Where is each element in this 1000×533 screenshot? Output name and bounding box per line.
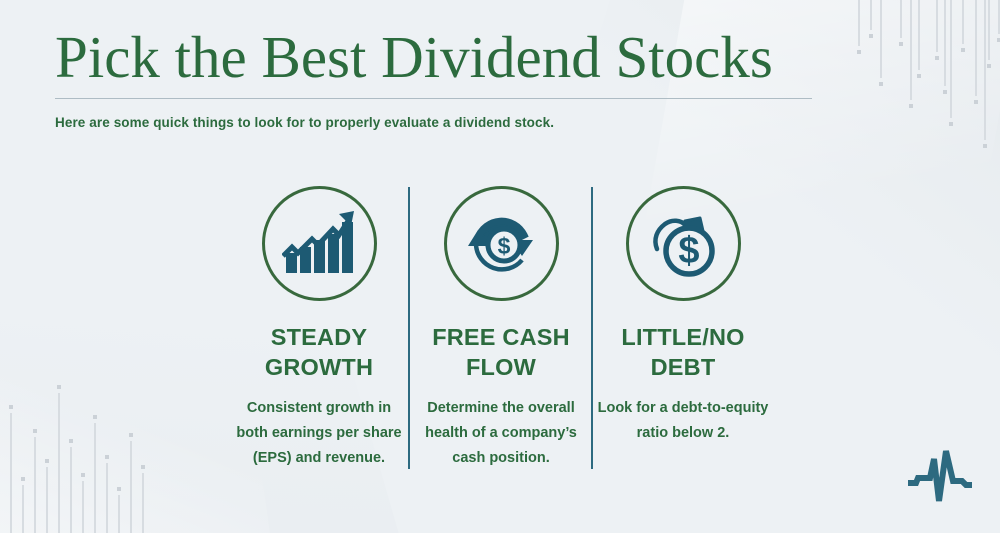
tick-line <box>880 0 882 78</box>
tick-line <box>984 0 986 140</box>
tick-line <box>870 0 872 30</box>
tick-line <box>910 0 912 100</box>
tick-dot <box>141 465 145 469</box>
tick-dot <box>857 50 861 54</box>
tick-dot <box>961 48 965 52</box>
column-heading: STEADY GROWTH <box>232 322 406 382</box>
tick-line <box>858 0 860 46</box>
feature-column-free-cash-flow: $ FREE CASH FLOW Determine the overall h… <box>410 186 592 471</box>
tick-dot <box>105 455 109 459</box>
tick-dot <box>33 429 37 433</box>
column-body: Consistent growth in both earnings per s… <box>232 396 406 471</box>
tick-dot <box>57 385 61 389</box>
tick-dot <box>909 104 913 108</box>
tick-line <box>962 0 964 44</box>
tick-dot <box>9 405 13 409</box>
tick-dot <box>21 477 25 481</box>
feature-column-little-no-debt: $ LITTLE/NO DEBT Look for a debt-to-equi… <box>592 186 774 471</box>
tick-line <box>944 0 946 86</box>
tick-dot <box>117 487 121 491</box>
tick-line <box>106 463 108 533</box>
tick-line <box>988 0 990 60</box>
tick-line <box>82 481 84 533</box>
tick-dot <box>949 122 953 126</box>
column-body: Look for a debt-to-equity ratio below 2. <box>596 396 770 446</box>
tick-line <box>950 0 952 118</box>
header: Pick the Best Dividend Stocks Here are s… <box>55 26 815 130</box>
tick-dot <box>879 82 883 86</box>
tick-line <box>58 393 60 533</box>
marketbeat-pulse-logo <box>906 445 972 503</box>
tick-line <box>118 495 120 533</box>
column-heading: FREE CASH FLOW <box>414 322 588 382</box>
tick-dot <box>917 74 921 78</box>
feature-column-steady-growth: STEADY GROWTH Consistent growth in both … <box>228 186 410 471</box>
column-heading: LITTLE/NO DEBT <box>596 322 770 382</box>
tick-line <box>94 423 96 533</box>
debt-bomb-icon: $ <box>626 186 741 301</box>
infographic-canvas: Pick the Best Dividend Stocks Here are s… <box>0 0 1000 533</box>
tick-dot <box>943 90 947 94</box>
tick-line <box>918 0 920 70</box>
growth-chart-icon <box>262 186 377 301</box>
tick-line <box>22 485 24 533</box>
tick-dot <box>869 34 873 38</box>
tick-line <box>142 473 144 533</box>
tick-line <box>975 0 977 96</box>
tick-line <box>10 413 12 533</box>
tick-dot <box>45 459 49 463</box>
tick-line <box>936 0 938 52</box>
cash-flow-cycle-icon: $ <box>444 186 559 301</box>
svg-text:$: $ <box>498 233 511 259</box>
tick-dot <box>935 56 939 60</box>
header-divider <box>55 98 812 99</box>
tick-dot <box>899 42 903 46</box>
page-title: Pick the Best Dividend Stocks <box>55 26 815 88</box>
svg-text:$: $ <box>678 230 699 272</box>
tick-dot <box>129 433 133 437</box>
feature-columns: STEADY GROWTH Consistent growth in both … <box>228 186 774 471</box>
tick-line <box>46 467 48 533</box>
tick-line <box>34 437 36 533</box>
tick-dot <box>69 439 73 443</box>
tick-line <box>70 447 72 533</box>
tick-dot <box>93 415 97 419</box>
page-subtitle: Here are some quick things to look for t… <box>55 115 815 130</box>
column-body: Determine the overall health of a compan… <box>414 396 588 471</box>
tick-dot <box>987 64 991 68</box>
tick-line <box>900 0 902 38</box>
tick-dot <box>974 100 978 104</box>
tick-dot <box>983 144 987 148</box>
tick-line <box>130 441 132 533</box>
tick-dot <box>81 473 85 477</box>
